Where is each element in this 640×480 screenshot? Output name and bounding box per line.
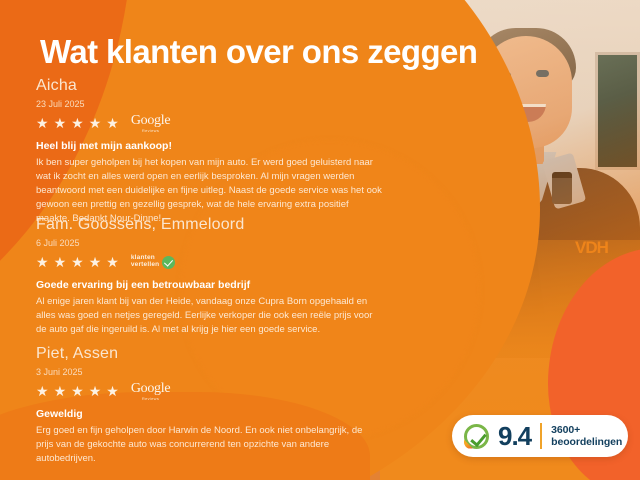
klantenvertellen-check-icon bbox=[464, 424, 489, 449]
google-logo-text: Google bbox=[131, 382, 170, 396]
review-card: Piet, Assen 3 Juni 2025 ★ ★ ★ ★ ★ Google… bbox=[36, 344, 386, 466]
star-icon: ★ bbox=[36, 116, 51, 130]
reviewer-name: Piet, Assen bbox=[36, 344, 386, 364]
content-layer: Wat klanten over ons zeggen Aicha 23 Jul… bbox=[0, 0, 640, 480]
star-icon: ★ bbox=[71, 116, 86, 130]
star-rating: ★ ★ ★ ★ ★ bbox=[36, 116, 121, 130]
check-circle-icon bbox=[162, 256, 175, 269]
star-icon: ★ bbox=[71, 384, 86, 398]
reviewer-name: Aicha bbox=[36, 76, 386, 96]
banner-stage: VDH Wat klanten over ons zeggen Aicha 23… bbox=[0, 0, 640, 480]
google-reviews-subtext: Reviews bbox=[142, 129, 159, 133]
review-card: Aicha 23 Juli 2025 ★ ★ ★ ★ ★ Google Revi… bbox=[36, 76, 386, 226]
review-title: Heel blij met mijn aankoop! bbox=[36, 139, 386, 153]
review-meta: ★ ★ ★ ★ ★ Google Reviews bbox=[36, 382, 386, 400]
review-body: Al enige jaren klant bij van der Heide, … bbox=[36, 295, 382, 337]
star-icon: ★ bbox=[54, 384, 69, 398]
rating-count-number: 3600+ bbox=[551, 424, 622, 437]
review-title: Goede ervaring bij een betrouwbaar bedri… bbox=[36, 278, 386, 292]
google-reviews-subtext: Reviews bbox=[142, 397, 159, 401]
star-icon: ★ bbox=[106, 255, 121, 269]
star-icon: ★ bbox=[106, 116, 121, 130]
rating-count: 3600+ beoordelingen bbox=[551, 424, 622, 449]
review-date: 3 Juni 2025 bbox=[36, 365, 386, 379]
klantenvertellen-badge: klanten vertellen bbox=[131, 255, 176, 269]
page-title: Wat klanten over ons zeggen bbox=[40, 33, 477, 71]
review-title: Geweldig bbox=[36, 407, 386, 421]
star-icon: ★ bbox=[106, 384, 121, 398]
star-icon: ★ bbox=[89, 116, 104, 130]
rating-count-label: beoordelingen bbox=[551, 436, 622, 449]
review-body: Erg goed en fijn geholpen door Harwin de… bbox=[36, 424, 382, 466]
reviewer-name: Fam. Goossens, Emmeloord bbox=[36, 215, 386, 235]
review-card: Fam. Goossens, Emmeloord 6 Juli 2025 ★ ★… bbox=[36, 215, 386, 337]
star-icon: ★ bbox=[54, 255, 69, 269]
star-rating: ★ ★ ★ ★ ★ bbox=[36, 255, 121, 269]
star-icon: ★ bbox=[36, 255, 51, 269]
rating-badge: 9.4 3600+ beoordelingen bbox=[452, 415, 628, 457]
klantenvertellen-line2: vertellen bbox=[131, 262, 160, 269]
star-icon: ★ bbox=[71, 255, 86, 269]
google-reviews-badge: Google Reviews bbox=[131, 382, 170, 401]
star-icon: ★ bbox=[36, 384, 51, 398]
rating-score: 9.4 bbox=[498, 423, 531, 449]
star-rating: ★ ★ ★ ★ ★ bbox=[36, 384, 121, 398]
star-icon: ★ bbox=[89, 255, 104, 269]
google-logo-text: Google bbox=[131, 114, 170, 128]
star-icon: ★ bbox=[54, 116, 69, 130]
klantenvertellen-wordmark: klanten vertellen bbox=[131, 255, 160, 269]
review-date: 23 Juli 2025 bbox=[36, 97, 386, 111]
review-meta: ★ ★ ★ ★ ★ klanten vertellen bbox=[36, 253, 386, 271]
divider bbox=[540, 423, 542, 449]
star-icon: ★ bbox=[89, 384, 104, 398]
review-date: 6 Juli 2025 bbox=[36, 236, 386, 250]
review-meta: ★ ★ ★ ★ ★ Google Reviews bbox=[36, 114, 386, 132]
google-reviews-badge: Google Reviews bbox=[131, 114, 170, 133]
